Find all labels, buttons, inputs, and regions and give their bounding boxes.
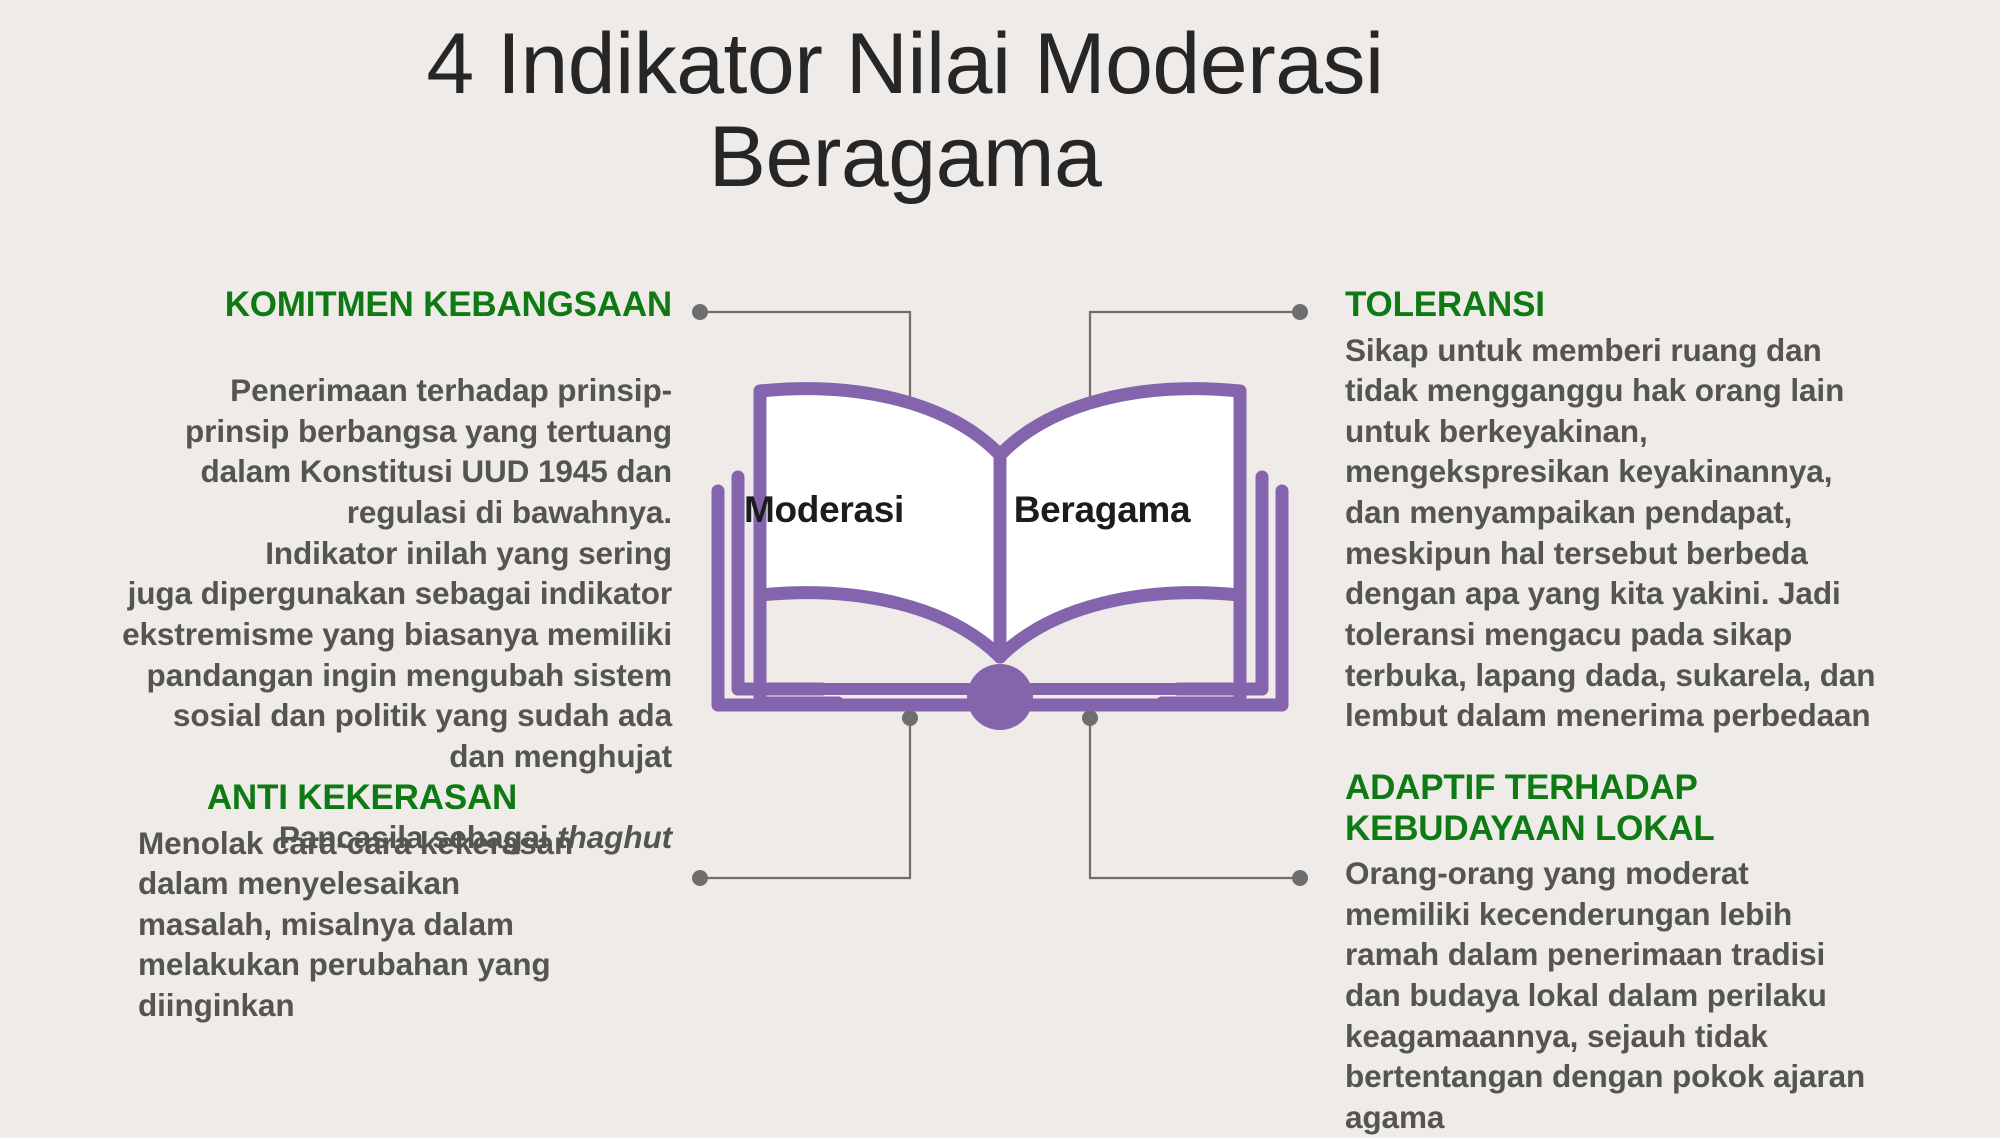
section-heading-anti-kekerasan: ANTI KEKERASAN	[52, 778, 672, 819]
section-heading-toleransi: TOLERANSI	[1345, 285, 1945, 326]
komitmen-body-text: Penerimaan terhadap prinsip- prinsip ber…	[122, 372, 672, 774]
book-label-moderasi: Moderasi	[698, 489, 950, 531]
open-book-graphic: Moderasi Beragama	[680, 285, 1320, 925]
page-title: 4 Indikator Nilai Moderasi Beragama	[290, 18, 1520, 204]
section-komitmen-kebangsaan: KOMITMEN KEBANGSAAN Penerimaan terhadap …	[52, 285, 672, 858]
section-body-anti-kekerasan: Menolak cara-cara kekerasan dalam menyel…	[52, 823, 672, 1026]
infographic-canvas: 4 Indikator Nilai Moderasi Beragama KOMI…	[0, 0, 2000, 1125]
section-body-adaptif: Orang-orang yang moderat memiliki kecend…	[1345, 853, 1945, 1137]
section-anti-kekerasan: ANTI KEKERASAN Menolak cara-cara kekeras…	[52, 778, 672, 1026]
book-icon	[680, 285, 1320, 925]
book-label-beragama: Beragama	[976, 489, 1228, 531]
section-adaptif-kebudayaan-lokal: ADAPTIF TERHADAP KEBUDAYAAN LOKAL Orang-…	[1345, 768, 1945, 1138]
section-heading-adaptif: ADAPTIF TERHADAP KEBUDAYAAN LOKAL	[1345, 768, 1945, 849]
section-body-toleransi: Sikap untuk memberi ruang dan tidak meng…	[1345, 330, 1945, 736]
section-toleransi: TOLERANSI Sikap untuk memberi ruang dan …	[1345, 285, 1945, 736]
book-spine-knob	[967, 664, 1033, 730]
section-heading-komitmen: KOMITMEN KEBANGSAAN	[52, 285, 672, 326]
